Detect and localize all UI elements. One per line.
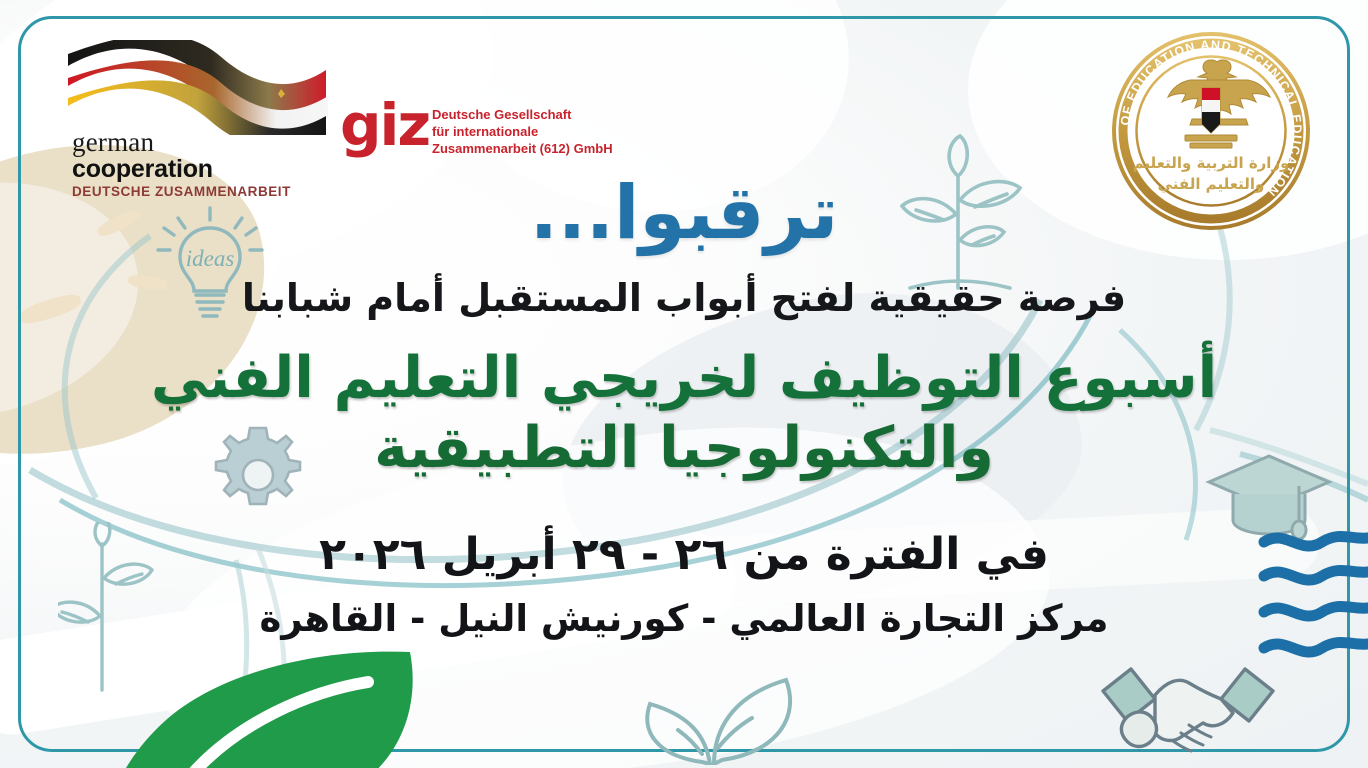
event-title: أسبوع التوظيف لخريجي التعليم الفني والتك… xyxy=(0,344,1368,483)
event-dateline: في الفترة من ٢٦ - ٢٩ أبريل ٢٠٢٦ xyxy=(0,530,1368,579)
giz-wordmark: giz xyxy=(340,96,429,154)
event-venue: مركز التجارة العالمي - كورنيش النيل - ال… xyxy=(0,598,1368,639)
giz-line-3: Zusammenarbeit (612) GmbH xyxy=(432,140,613,157)
handshake-icon xyxy=(1093,655,1283,760)
giz-description: Deutsche Gesellschaft für internationale… xyxy=(432,106,613,157)
event-title-line-2: والتكنولوجيا التطبيقية xyxy=(0,414,1368,484)
green-leaf-icon xyxy=(110,648,420,768)
german-egyptian-flag-ribbon-icon xyxy=(64,40,336,135)
svg-text:وزارة التربية والتعليم: وزارة التربية والتعليم xyxy=(1133,154,1290,172)
event-title-line-1: أسبوع التوظيف لخريجي التعليم الفني xyxy=(0,344,1368,414)
giz-line-1: Deutsche Gesellschaft xyxy=(432,106,613,123)
headline-teaser: ترقبوا... xyxy=(0,176,1368,250)
german-cooperation-logo: german cooperation DEUTSCHE ZUSAMMENARBE… xyxy=(58,40,358,190)
egypt-flag-shield-icon xyxy=(1202,88,1220,133)
subtitle-text: فرصة حقيقية لفتح أبواب المستقبل أمام شبا… xyxy=(0,278,1368,320)
event-poster: german cooperation DEUTSCHE ZUSAMMENARBE… xyxy=(0,0,1368,768)
giz-logo: giz Deutsche Gesellschaft für internatio… xyxy=(340,100,630,170)
gc-line-german: german xyxy=(72,128,291,156)
two-leaves-icon xyxy=(610,660,820,765)
giz-line-2: für internationale xyxy=(432,123,613,140)
